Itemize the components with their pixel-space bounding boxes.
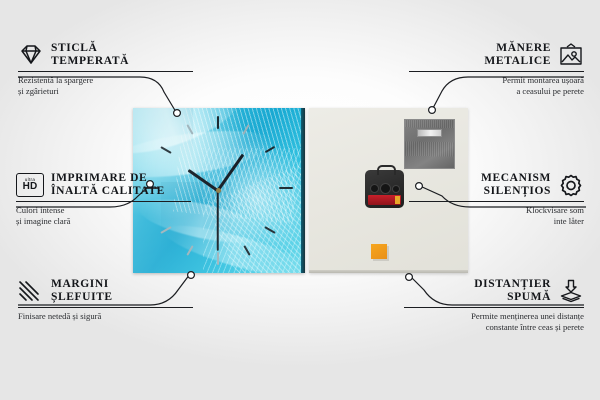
feature-title: STICLĂ TEMPERATĂ [51,42,129,68]
feature-high-quality-print: ultra HD IMPRIMARE DE ÎNALTĂ CALITATE Cu… [16,172,191,226]
feature-desc-line1: Permite menținerea unei distanțe [404,311,584,322]
mechanism-hook [377,165,396,175]
gear-icon [558,173,584,197]
feature-header: MARGINI ȘLEFUITE [18,278,193,304]
glass-edge [301,108,305,273]
feature-title: DISTANȚIER SPUMĂ [474,278,551,304]
feature-desc-line2: inte låter [409,216,584,227]
hanger-slot [417,129,442,137]
hatch-lines-icon [18,279,44,303]
shade-wash [133,108,193,168]
feature-divider [404,307,584,308]
hands-center-cap [216,188,221,193]
feature-desc-line2: a ceasului pe perete [409,86,584,97]
feature-divider [18,71,193,72]
mechanism-knob [380,183,391,194]
feature-header: MECANISM SILENȚIOS [409,172,584,198]
feature-polished-edges: MARGINI ȘLEFUITE Finisare netedă și sigu… [18,278,193,322]
diamond-icon [18,43,44,67]
feature-description: Klockvisare som inte låter [409,205,584,226]
feature-desc-line2: constante între ceas și perete [404,322,584,333]
feature-desc-line1: Rezistentă la spargere [18,75,193,86]
press-down-layers-icon [558,279,584,303]
feature-desc-line2: și zgârieturi [18,86,193,97]
feature-divider [409,201,584,202]
feature-metal-handles: MĂNERE METALICE Permit montarea ușoară a… [409,42,584,96]
feature-title-line1: STICLĂ [51,42,129,55]
ultra-hd-icon-large-text: HD [23,182,38,192]
second-hand [217,190,219,250]
feature-divider [18,307,193,308]
metal-hanger-plate [404,119,455,169]
feature-title-line2: ÎNALTĂ CALITATE [51,185,165,198]
clock-tick-6 [217,252,219,265]
feature-title-line2: ȘLEFUITE [51,291,113,304]
feature-title: IMPRIMARE DE ÎNALTĂ CALITATE [51,172,165,198]
ultra-hd-icon: ultra HD [16,173,44,197]
feature-description: Permite menținerea unei distanțe constan… [404,311,584,332]
feature-silent-mechanism: MECANISM SILENȚIOS Klockvisare som inte … [409,172,584,226]
feature-header: ultra HD IMPRIMARE DE ÎNALTĂ CALITATE [16,172,191,198]
picture-frame-hanger-icon [558,43,584,67]
battery-terminal [395,196,400,204]
feature-description: Finisare netedă și sigură [18,311,193,322]
infographic-canvas: STICLĂ TEMPERATĂ Rezistentă la spargere … [0,0,600,400]
feature-description: Culori intense și imagine clară [16,205,191,226]
feature-title-line2: TEMPERATĂ [51,55,129,68]
feature-description: Permit montarea ușoară a ceasului pe per… [409,75,584,96]
feature-tempered-glass: STICLĂ TEMPERATĂ Rezistentă la spargere … [18,42,193,96]
feature-foam-spacer: DISTANȚIER SPUMĂ Permite menținerea unei… [404,278,584,332]
feature-title: MARGINI ȘLEFUITE [51,278,113,304]
feature-description: Rezistentă la spargere și zgârieturi [18,75,193,96]
mechanism-knob [392,185,400,193]
feature-title-line2: METALICE [484,55,551,68]
feature-desc-line1: Permit montarea ușoară [409,75,584,86]
back-panel-edge [309,270,468,273]
clock-mechanism [365,170,404,208]
feature-title: MĂNERE METALICE [484,42,551,68]
mechanism-knob [370,184,379,193]
feature-header: STICLĂ TEMPERATĂ [18,42,193,68]
clock-tick-12 [217,116,219,129]
feature-title-line1: MECANISM [481,172,551,185]
feature-desc-line1: Klockvisare som [409,205,584,216]
feature-title-line1: IMPRIMARE DE [51,172,165,185]
feature-title-line1: MĂNERE [484,42,551,55]
feature-divider [16,201,191,202]
feature-title-line2: SPUMĂ [474,291,551,304]
feature-desc-line1: Culori intense [16,205,191,216]
feature-header: DISTANȚIER SPUMĂ [404,278,584,304]
feature-title-line2: SILENȚIOS [481,185,551,198]
feature-title: MECANISM SILENȚIOS [481,172,551,198]
clock-tick-3 [279,187,293,189]
feature-header: MĂNERE METALICE [409,42,584,68]
foam-spacer-pad [371,244,387,259]
feature-divider [409,71,584,72]
feature-desc-line2: și imagine clară [16,216,191,227]
feature-title-line1: DISTANȚIER [474,278,551,291]
feature-desc-line1: Finisare netedă și sigură [18,311,193,322]
feature-title-line1: MARGINI [51,278,113,291]
battery [368,195,401,205]
